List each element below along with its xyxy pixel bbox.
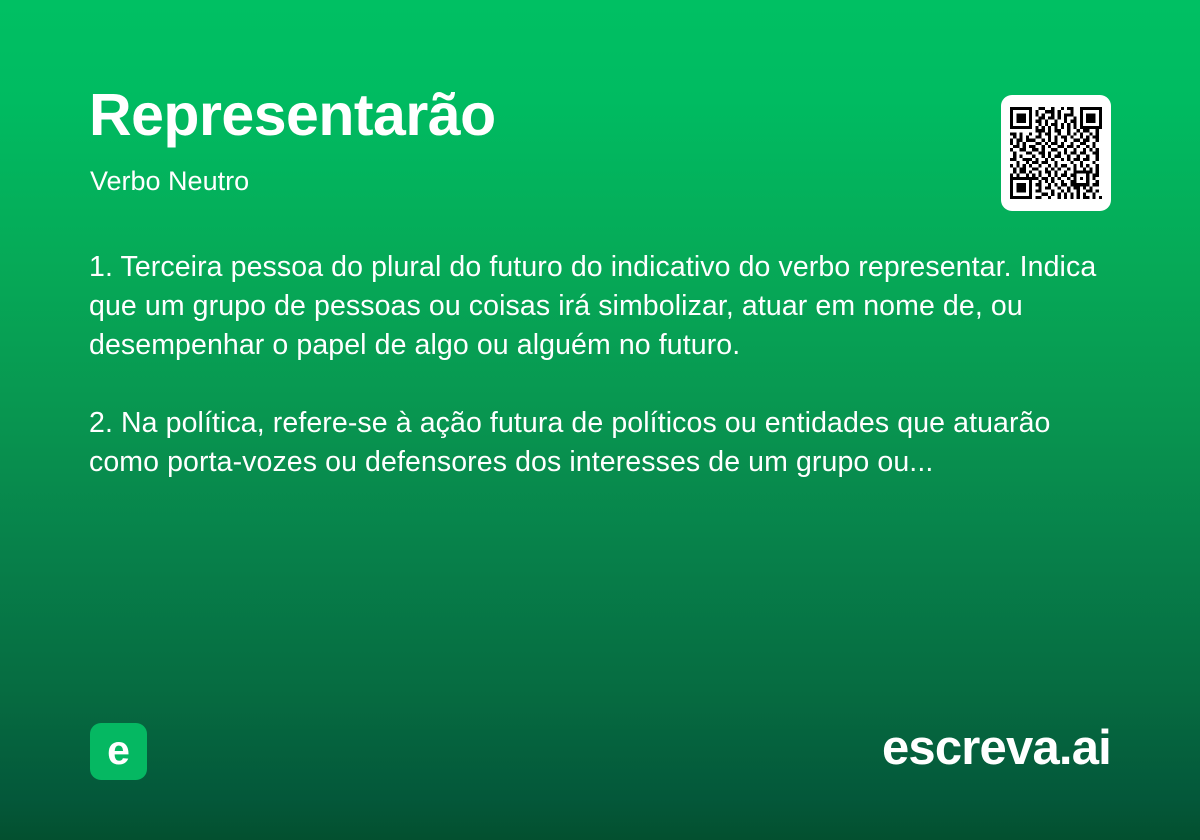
brand-logo-glyph: e: [90, 723, 147, 780]
definition-item: 1. Terceira pessoa do plural do futuro d…: [89, 248, 1099, 365]
qr-code-card[interactable]: [1001, 95, 1111, 211]
qr-code-icon: [1010, 107, 1102, 199]
page-title: Representarão: [89, 83, 496, 148]
definition-list: 1. Terceira pessoa do plural do futuro d…: [89, 248, 1099, 482]
brand-logo-badge[interactable]: e: [90, 723, 147, 780]
dictionary-card: Representarão Verbo Neutro: [0, 0, 1200, 840]
definition-item: 2. Na política, refere-se à ação futura …: [89, 404, 1099, 482]
word-class-label: Verbo Neutro: [90, 166, 249, 197]
brand-wordmark: escreva.ai: [882, 722, 1111, 776]
